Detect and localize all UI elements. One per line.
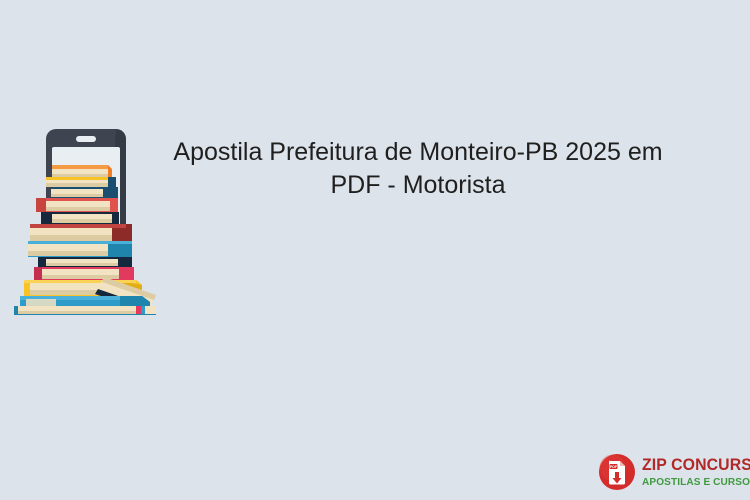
book-orange-top bbox=[52, 165, 112, 177]
book-navy-1 bbox=[51, 187, 118, 198]
book-red-1 bbox=[36, 198, 118, 212]
pdf-download-icon-svg: PDF bbox=[598, 453, 636, 491]
page-title: Apostila Prefeitura de Monteiro-PB 2025 … bbox=[168, 136, 668, 202]
brand-logo-text: ZIP CONCURSOS APOSTILAS E CURSOS bbox=[642, 457, 750, 487]
pdf-download-icon: PDF bbox=[598, 453, 636, 491]
book-navy-2 bbox=[41, 212, 119, 224]
svg-text:PDF: PDF bbox=[610, 465, 618, 469]
brand-tagline: APOSTILAS E CURSOS bbox=[642, 477, 750, 488]
promo-banner: Apostila Prefeitura de Monteiro-PB 2025 … bbox=[0, 0, 750, 500]
page-title-text: Apostila Prefeitura de Monteiro-PB 2025 … bbox=[173, 138, 662, 199]
books-illustration bbox=[8, 125, 168, 315]
book-navy-3 bbox=[38, 257, 132, 267]
book-crimson bbox=[34, 267, 134, 280]
books-illustration-svg bbox=[8, 125, 168, 315]
brand-logo[interactable]: PDF ZIP CONCURSOS APOSTILAS E CURSOS bbox=[598, 449, 748, 495]
brand-name: ZIP CONCURSOS bbox=[642, 457, 750, 474]
book-bottom-blue bbox=[14, 306, 156, 315]
book-cream-2 bbox=[46, 177, 116, 187]
book-maroon bbox=[30, 224, 132, 241]
book-blue-1 bbox=[28, 241, 132, 257]
